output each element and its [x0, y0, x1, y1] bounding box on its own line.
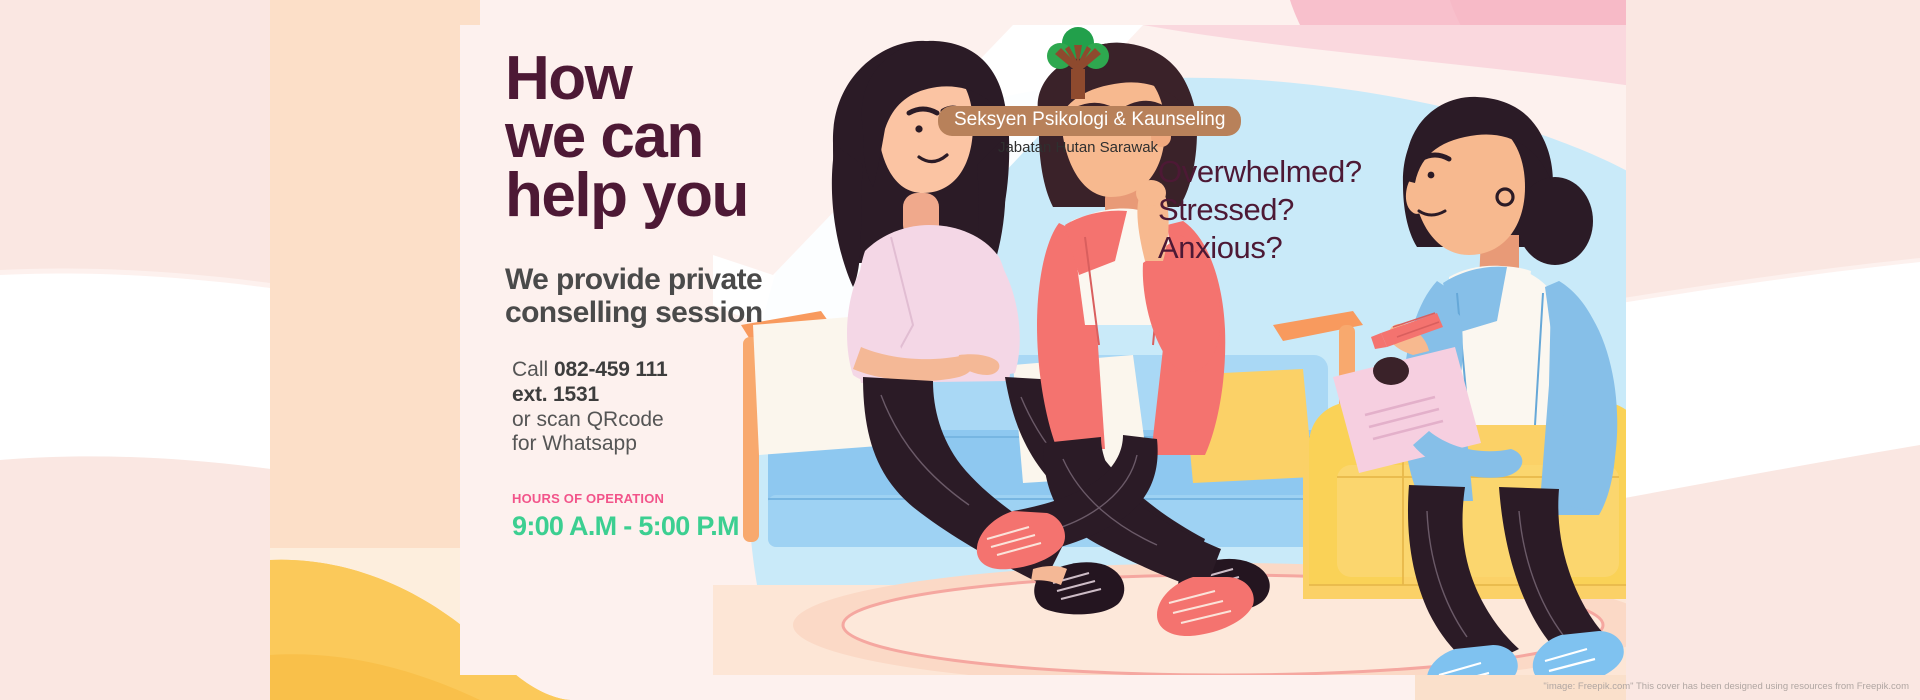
- image-credit: "image: Freepik.com" This cover has been…: [1543, 681, 1909, 692]
- left-text-column: How we can help you We provide private c…: [505, 50, 825, 542]
- hours-value: 9:00 A.M - 5:00 P.M: [512, 511, 825, 542]
- questions-block: Overwhelmed? Stressed? Anxious?: [1158, 153, 1362, 267]
- headline-line-2: we can: [505, 108, 825, 166]
- content-card: How we can help you We provide private c…: [460, 25, 1626, 675]
- hours-of-operation-block: HOURS OF OPERATION 9:00 A.M - 5:00 P.M: [512, 491, 825, 542]
- page-title: How we can help you: [505, 50, 825, 225]
- headline-line-3: help you: [505, 167, 825, 225]
- contact-block: Call 082-459 111 ext. 1531 or scan QRcod…: [512, 358, 825, 457]
- phone-number[interactable]: 082-459 111: [554, 358, 667, 381]
- question-line-2: Stressed?: [1158, 191, 1362, 229]
- tree-icon: [1041, 25, 1115, 101]
- ponytail: [1517, 177, 1593, 265]
- call-prefix: Call: [512, 358, 554, 381]
- logo-subtitle: Jabatan Hutan Sarawak: [938, 139, 1218, 156]
- hours-label: HOURS OF OPERATION: [512, 491, 825, 506]
- question-line-1: Overwhelmed?: [1158, 153, 1362, 191]
- scan-instruction-line-2: for Whatsapp: [512, 432, 825, 457]
- logo-title: Seksyen Psikologi & Kaunseling: [938, 106, 1241, 136]
- poster-banner: How we can help you We provide private c…: [270, 0, 1626, 700]
- subheadline: We provide private conselling session: [505, 263, 825, 330]
- phone-extension: ext. 1531: [512, 383, 825, 408]
- headline-line-1: How: [505, 50, 825, 108]
- peach-column: [270, 0, 480, 560]
- scan-instruction-line-1: or scan QRcode: [512, 408, 825, 433]
- subhead-line-1: We provide private: [505, 263, 825, 297]
- subhead-line-2: conselling session: [505, 296, 825, 330]
- call-line: Call 082-459 111: [512, 358, 825, 383]
- organisation-logo: Seksyen Psikologi & Kaunseling Jabatan H…: [938, 25, 1218, 156]
- question-line-3: Anxious?: [1158, 229, 1362, 267]
